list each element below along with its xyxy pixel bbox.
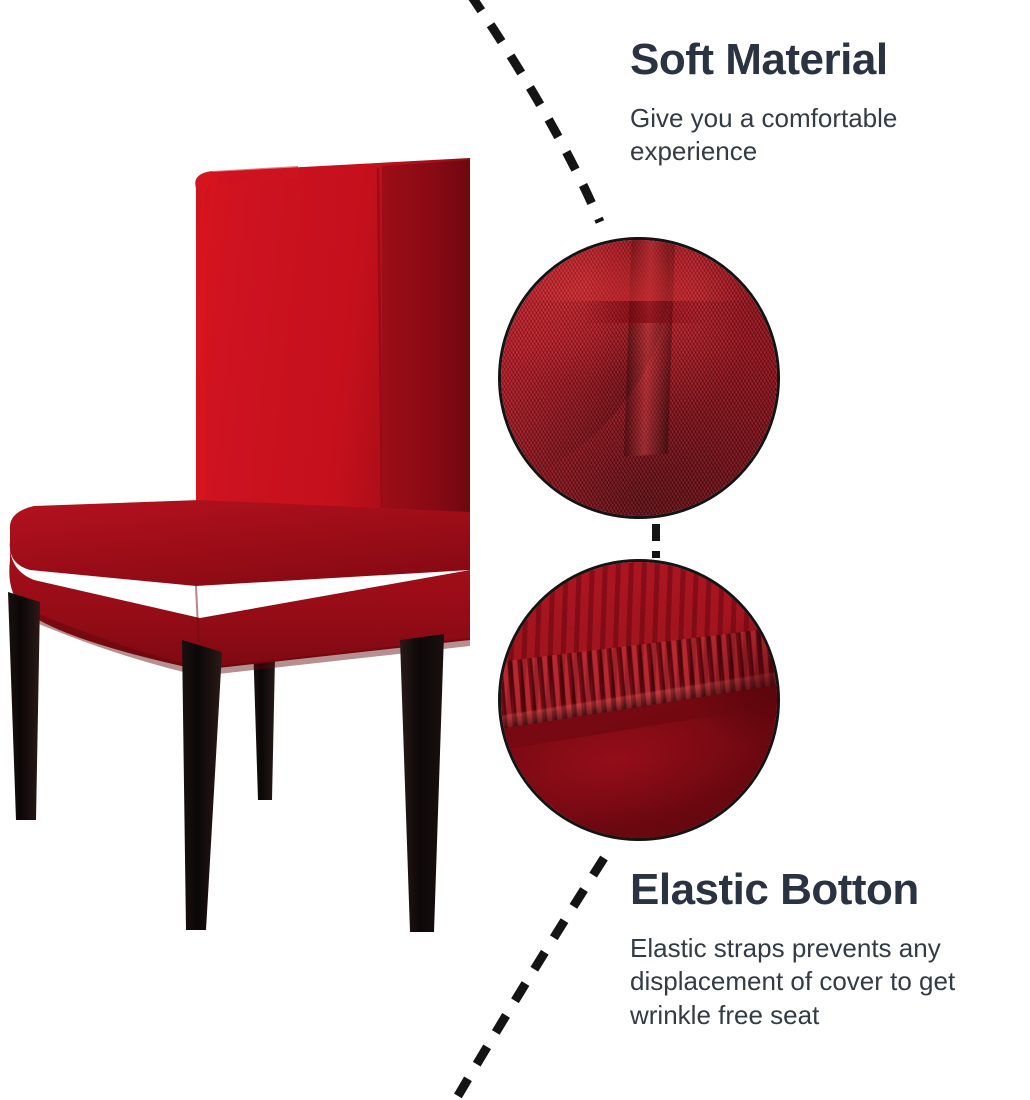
- chair-leg-front-center: [182, 640, 222, 930]
- feature-block-elastic-bottom: Elastic Botton Elastic straps prevents a…: [630, 866, 1030, 1033]
- leader-line-bottom: [452, 858, 604, 1100]
- chair-leg-rear-right: [400, 634, 444, 932]
- elastic-hem-closeup-image: [501, 562, 777, 838]
- feature-description-elastic-bottom: Elastic straps prevents any displacement…: [630, 932, 1030, 1033]
- knit-fabric-closeup-image: [501, 240, 777, 516]
- feature-description-soft-material: Give you a comfortable experience: [630, 102, 1030, 170]
- hem-right-shadow: [683, 612, 780, 750]
- detail-circle-elastic-bottom: [498, 559, 780, 841]
- chair-back-right-face: [382, 160, 470, 522]
- chair-seat-top: [10, 500, 470, 586]
- feature-title-elastic-bottom: Elastic Botton: [630, 866, 1030, 914]
- chair-leg-front-left: [8, 592, 40, 820]
- detail-circle-soft-material: [498, 237, 780, 519]
- feature-title-soft-material: Soft Material: [630, 36, 1030, 84]
- product-feature-infographic: Soft Material Give you a comfortable exp…: [0, 0, 1030, 1100]
- leader-line-top: [470, 0, 600, 222]
- chair-illustration: [0, 140, 470, 960]
- feature-block-soft-material: Soft Material Give you a comfortable exp…: [630, 36, 1030, 169]
- knit-top-gloss: [523, 237, 755, 301]
